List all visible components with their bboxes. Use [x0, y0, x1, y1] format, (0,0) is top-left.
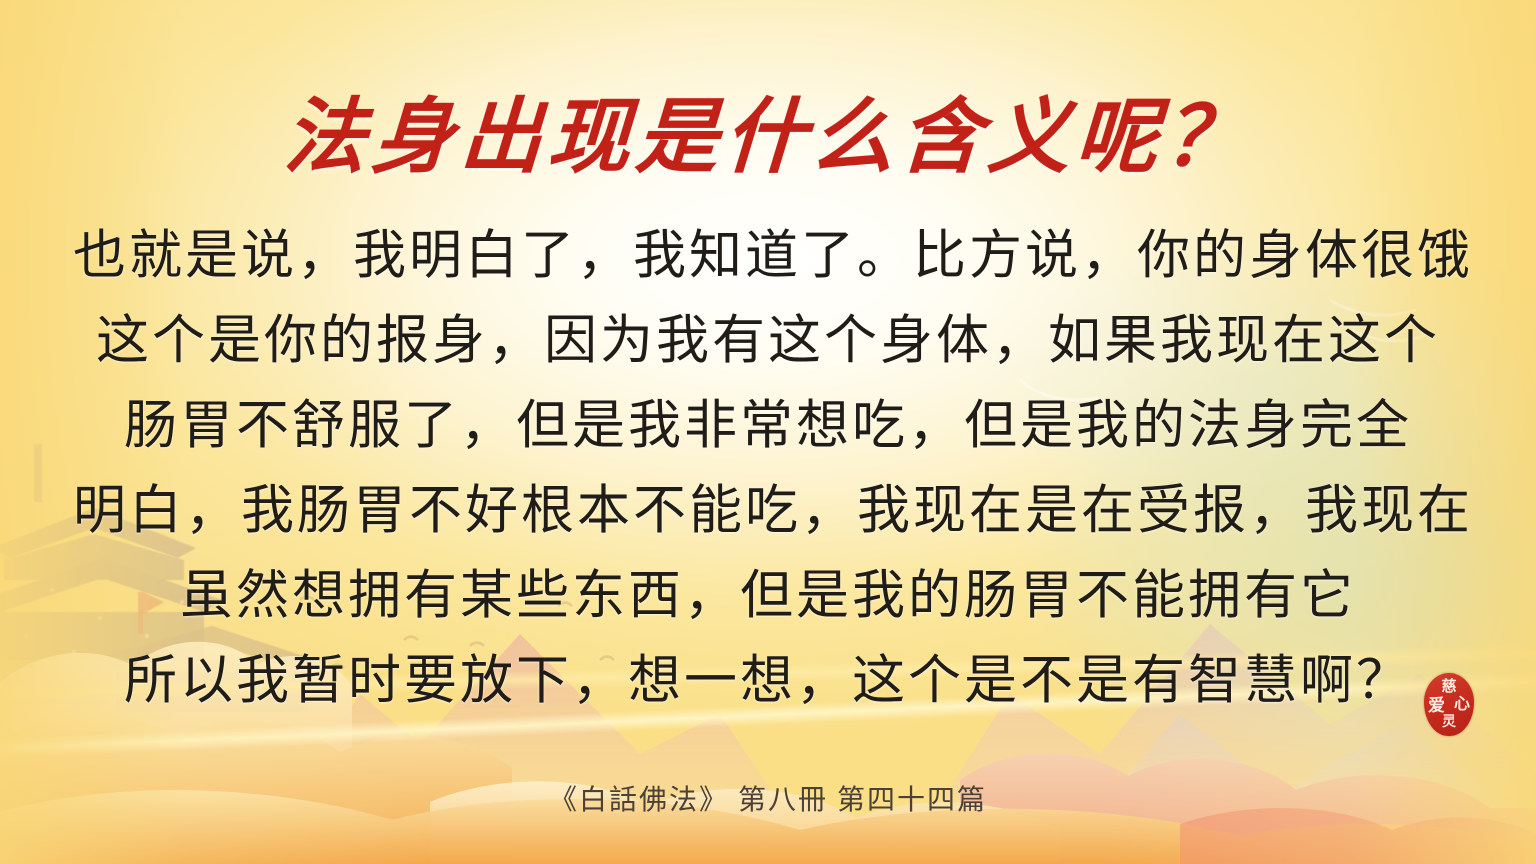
body-line: 虽然想拥有某些东西，但是我的肠胃不能拥有它 — [73, 554, 1463, 639]
body-line: 肠胃不舒服了，但是我非常想吃，但是我的法身完全 — [73, 384, 1463, 469]
body-line: 明白，我肠胃不好根本不能吃，我现在是在受报，我现在 — [73, 469, 1463, 554]
seal-char-left: 爱 — [1428, 697, 1445, 714]
seal-stamp: 慈 爱 心 灵 — [1424, 673, 1474, 736]
poster-canvas: 法身出现是什么含义呢？ 也就是说，我明白了，我知道了。比方说，你的身体很饿 这个… — [0, 0, 1536, 864]
body-text: 也就是说，我明白了，我知道了。比方说，你的身体很饿 这个是你的报身，因为我有这个… — [73, 214, 1463, 724]
seal-char-right: 心 — [1454, 697, 1470, 713]
source-citation: 《白話佛法》 第八冊 第四十四篇 — [0, 778, 1536, 818]
poster-content: 法身出现是什么含义呢？ 也就是说，我明白了，我知道了。比方说，你的身体很饿 这个… — [0, 0, 1536, 864]
seal-char-bottom: 灵 — [1442, 716, 1456, 730]
body-line: 所以我暂时要放下，想一想，这个是不是有智慧啊？ — [73, 639, 1463, 724]
seal-characters: 慈 爱 心 灵 — [1424, 673, 1474, 736]
body-line: 这个是你的报身，因为我有这个身体，如果我现在这个 — [73, 299, 1463, 384]
body-line: 也就是说，我明白了，我知道了。比方说，你的身体很饿 — [73, 214, 1463, 299]
seal-char-top: 慈 — [1441, 680, 1456, 695]
page-title: 法身出现是什么含义呢？ — [282, 96, 1254, 178]
